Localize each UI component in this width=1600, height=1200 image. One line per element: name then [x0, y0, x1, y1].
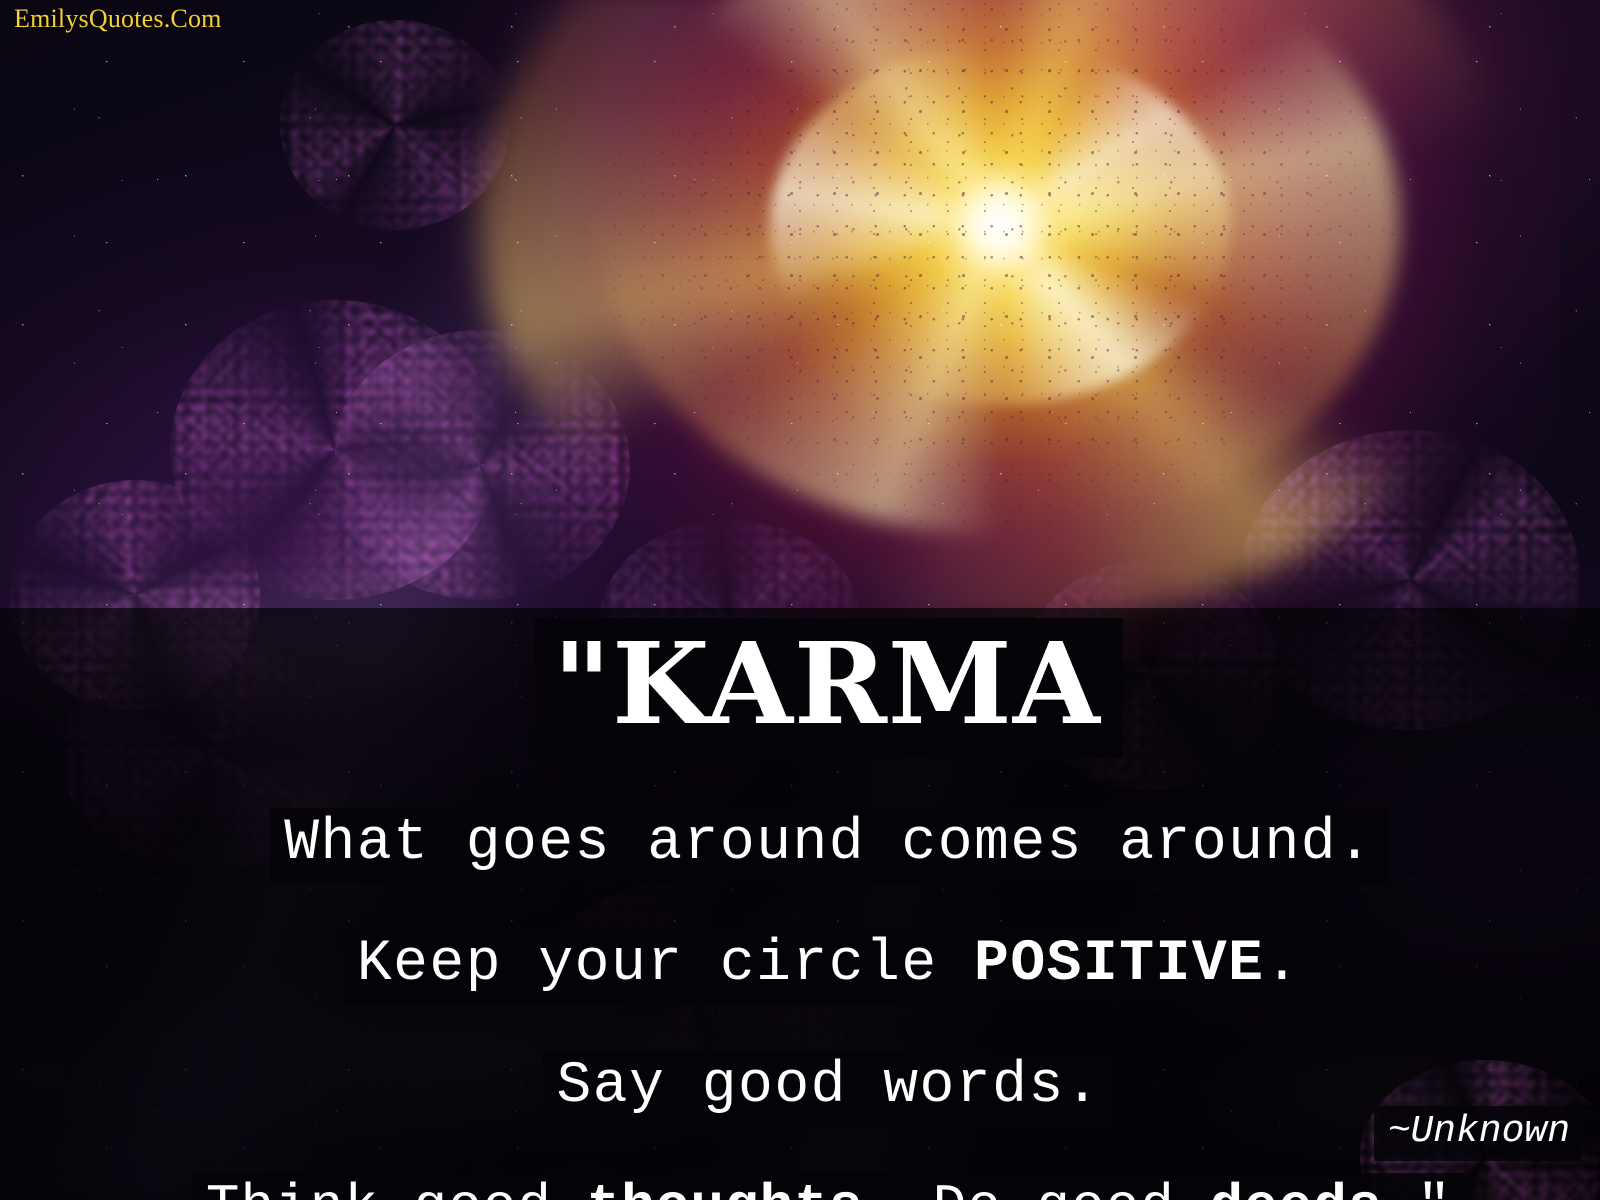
- quote-attribution: ~Unknown: [1374, 1106, 1582, 1161]
- quote-poster: EmilysQuotes.Com "KARMA What goes around…: [0, 0, 1600, 1200]
- emphasized-word: POSITIVE: [974, 932, 1264, 997]
- quote-text-run: Say good words.: [557, 1054, 1102, 1119]
- site-watermark: EmilysQuotes.Com: [14, 4, 222, 34]
- quote-block: "KARMA What goes around comes around. Ke…: [0, 600, 1600, 1200]
- quote-line-4-text: Think good thoughts. Do good deeds.": [192, 1173, 1466, 1200]
- quote-line-2: Keep your circle POSITIVE.: [285, 911, 1315, 1023]
- quote-text-run: .": [1383, 1175, 1452, 1200]
- quote-headline-text: "KARMA: [535, 618, 1123, 758]
- emphasized-word: thoughts: [587, 1175, 864, 1200]
- quote-line-2-text: Keep your circle POSITIVE.: [343, 929, 1315, 1005]
- quote-line-1: What goes around comes around.: [213, 790, 1388, 902]
- quote-text-run: .: [1264, 932, 1300, 997]
- quote-line-3-text: Say good words.: [543, 1051, 1116, 1127]
- quote-line-3: Say good words.: [485, 1033, 1115, 1145]
- quote-text-run: Think good: [206, 1175, 587, 1200]
- quote-line-4: Think good thoughts. Do good deeds.": [134, 1155, 1465, 1200]
- emphasized-word: deeds: [1209, 1175, 1382, 1200]
- quote-text-run: Keep your circle: [357, 932, 974, 997]
- quote-line-1-text: What goes around comes around.: [270, 808, 1387, 884]
- quote-text-run: . Do good: [863, 1175, 1209, 1200]
- quote-headline: "KARMA: [477, 600, 1123, 776]
- quote-text-run: What goes around comes around.: [284, 811, 1373, 876]
